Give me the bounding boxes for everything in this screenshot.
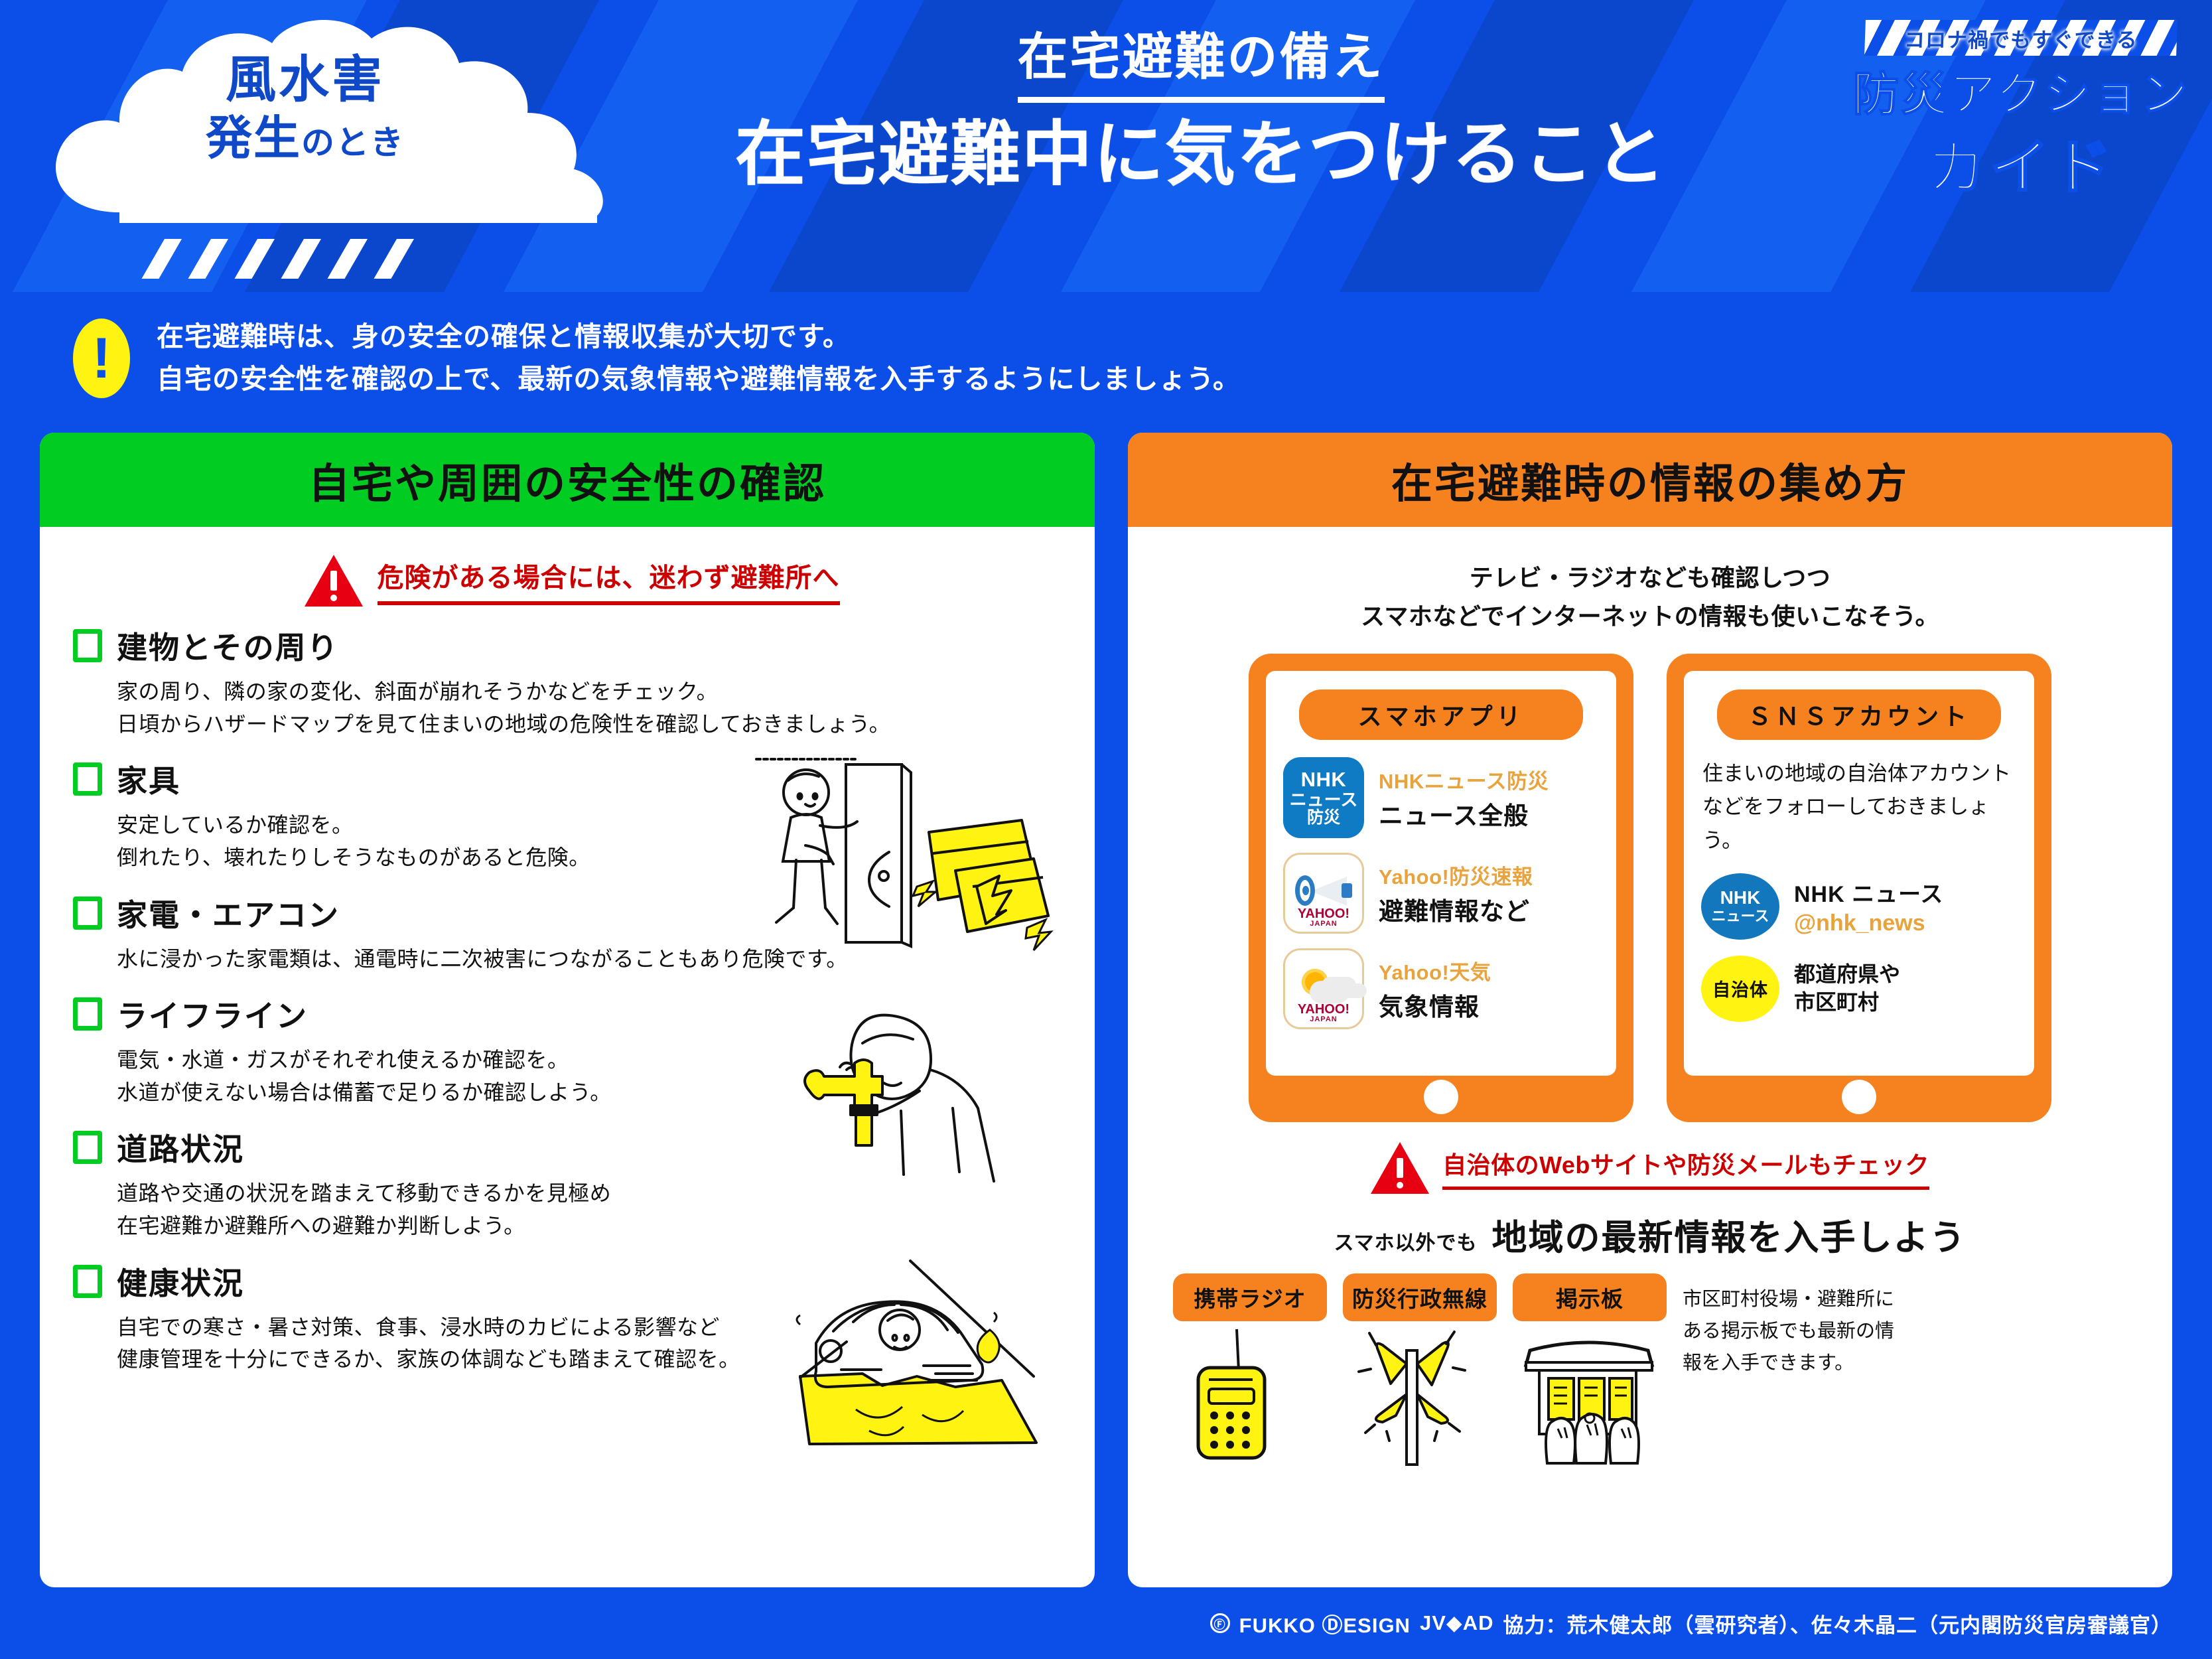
megaphone-icon: [1295, 874, 1352, 908]
yahoo-brand: YAHOO!: [1298, 906, 1349, 921]
collect-big-text: 地域の最新情報を入手しよう: [1492, 1210, 1967, 1260]
left-panel-heading: 自宅や周囲の安全性の確認: [309, 450, 826, 510]
sns-card-description: 住まいの地域の自治体アカウントなどをフォローしておきましょう。: [1702, 757, 2017, 857]
sns-account-name: NHK ニュース: [1794, 876, 1943, 908]
checkbox-icon[interactable]: [73, 1265, 102, 1298]
device-cards: スマホアプリ NHK ニュース 防災 NHKニュース防災 ニュース全般: [1158, 654, 2142, 1122]
checklist-title: 健康状況: [117, 1260, 244, 1303]
collect-small-text: スマホ以外でも: [1334, 1226, 1477, 1256]
person-checking-faucet-illustration: [790, 991, 1075, 1210]
checklist-title: 道路状況: [117, 1125, 244, 1169]
alert-line-1: 在宅避難時は、身の安全の確保と情報収集が大切です。: [157, 316, 1241, 358]
checklist-title: 家具: [117, 757, 180, 801]
left-panel-header: 自宅や周囲の安全性の確認: [40, 433, 1095, 527]
nhk-news-bosai-app-icon: NHK ニュース 防災: [1283, 757, 1364, 838]
app-icon-line-a: NHK: [1301, 769, 1347, 791]
checklist-desc-2: 日頃からハザードマップを見て住まいの地域の危険性を確認しておきましょう。: [117, 708, 1071, 741]
sun-cloud-icon: [1295, 969, 1352, 1006]
checklist-desc-1: 家の周り、隣の家の変化、斜面が崩れそうかなどをチェック。: [117, 676, 1071, 708]
app-role: 避難情報など: [1379, 891, 1533, 927]
yahoo-brand: YAHOO!: [1298, 1002, 1349, 1017]
sns-icon-line-a: NHK: [1720, 888, 1761, 908]
right-panel-body: テレビ・ラジオなども確認しつつ スマホなどでインターネットの情報も使いこなそう。…: [1128, 527, 2172, 1587]
left-panel-body: 危険がある場合には、迷わず避難所へ 建物とその周り 家の周り、隣の家の変化、斜面…: [40, 527, 1095, 1587]
footer-credit: 協力：荒木健太郎（雲研究者）、佐々木晶二（元内閣防災官房審議官）: [1503, 1609, 2173, 1638]
car-in-flooded-road-illustration: [736, 1244, 1088, 1463]
alert-text: 在宅避難時は、身の安全の確保と情報収集が大切です。 自宅の安全性を確認の上で、最…: [157, 316, 1241, 400]
home-button-icon[interactable]: [1424, 1080, 1458, 1114]
badge-column: 防災行政無線: [1343, 1273, 1497, 1474]
sns-card-pill: ＳＮＳアカウント: [1717, 689, 2001, 740]
badge-label-bulletin: 掲示板: [1513, 1273, 1667, 1321]
nhk-news-sns-icon: NHK ニュース: [1701, 873, 1779, 940]
right-panel-header: 在宅避難時の情報の集め方: [1128, 433, 2172, 527]
portable-radio-icon: [1173, 1321, 1306, 1467]
infographic-page: 風水害 発生のとき 在宅避難の備え 在宅避難中に気をつけること コロナ禍でもすぐ…: [0, 0, 2212, 1659]
app-card-pill: スマホアプリ: [1299, 689, 1583, 740]
yahoo-bosai-sokuho-app-icon: YAHOO! JAPAN: [1283, 853, 1364, 934]
checkbox-icon[interactable]: [73, 762, 102, 796]
app-name: Yahoo!防災速報: [1379, 860, 1533, 890]
checkbox-icon[interactable]: [73, 997, 102, 1031]
yahoo-brand-label: YAHOO! JAPAN: [1285, 907, 1362, 928]
loudspeaker-tower-icon: [1343, 1321, 1482, 1467]
yahoo-brand-sub: JAPAN: [1285, 920, 1362, 928]
checklist-title: ライフライン: [117, 992, 308, 1036]
checklist-desc-2: 在宅避難か避難所への避難か判断しよう。: [117, 1210, 1071, 1242]
badge-label-radio: 携帯ラジオ: [1173, 1273, 1327, 1321]
right-warning-text: 自治体のWebサイトや防災メールもチェック: [1442, 1146, 1929, 1190]
sns-card-screen: ＳＮＳアカウント 住まいの地域の自治体アカウントなどをフォローしておきましょう。…: [1684, 671, 2034, 1076]
logo-line-3: ガイド: [1848, 119, 2193, 205]
alert-banner: ! 在宅避難時は、身の安全の確保と情報収集が大切です。 自宅の安全性を確認の上で…: [73, 312, 1798, 405]
yahoo-brand-label: YAHOO! JAPAN: [1285, 1003, 1362, 1023]
page-subtitle: 在宅避難の備え: [1018, 16, 1385, 103]
app-role: 気象情報: [1379, 987, 1491, 1023]
cloud-line-1: 風水害: [40, 52, 571, 108]
left-warning-row: 危険がある場合には、迷わず避難所へ: [73, 555, 1071, 607]
person-with-flashlight-and-fallen-furniture-illustration: [736, 746, 1081, 965]
checkbox-icon[interactable]: [73, 629, 102, 662]
badge-label-radio-system: 防災行政無線: [1343, 1273, 1497, 1321]
badge-column: 携帯ラジオ: [1173, 1273, 1327, 1474]
app-role: ニュース全般: [1379, 796, 1549, 831]
app-icon-line-c: 防災: [1307, 809, 1340, 826]
fukko-logo-icon: Ⓕ: [1210, 1613, 1230, 1633]
right-lead-text: テレビ・ラジオなども確認しつつ スマホなどでインターネットの情報も使いこなそう。: [1158, 559, 2142, 635]
right-lead-line-2: スマホなどでインターネットの情報も使いこなそう。: [1158, 597, 2142, 636]
left-warning-text: 危険がある場合には、迷わず避難所へ: [378, 556, 840, 605]
logo-ribbon: コロナ禍でもすぐできる: [1864, 20, 2177, 56]
right-panel-info-gathering: 在宅避難時の情報の集め方 テレビ・ラジオなども確認しつつ スマホなどでインターネ…: [1128, 433, 2172, 1587]
sns-account-row[interactable]: NHK ニュース NHK ニュース @nhk_news: [1701, 873, 2017, 940]
page-title: 在宅避難中に気をつけること: [571, 116, 1831, 194]
app-row[interactable]: YAHOO! JAPAN Yahoo!天気 気象情報: [1283, 948, 1599, 1029]
smartphone-app-card: スマホアプリ NHK ニュース 防災 NHKニュース防災 ニュース全般: [1249, 654, 1633, 1122]
jichitai-sns-icon: 自治体: [1701, 956, 1779, 1022]
yahoo-brand-sub: JAPAN: [1285, 1016, 1362, 1023]
badge-note-text: 市区町村役場・避難所にある掲示板でも最新の情報を入手できます。: [1683, 1273, 1901, 1380]
footer-credits: Ⓕ FUKKO ⒹESIGN JV◆AD 協力：荒木健太郎（雲研究者）、佐々木晶…: [0, 1587, 2212, 1659]
warning-triangle-icon: [305, 555, 363, 607]
sns-icon-label: 自治体: [1712, 975, 1768, 1001]
offline-info-badges: 携帯ラジオ: [1158, 1273, 2142, 1474]
cloud-line-2-main: 発生: [206, 112, 301, 164]
cloud-line-2-sub: のとき: [301, 124, 405, 161]
footer-jvoad: JV◆AD: [1420, 1611, 1494, 1635]
checklist-title: 建物とその周り: [117, 624, 339, 668]
yahoo-tenki-app-icon: YAHOO! JAPAN: [1283, 948, 1364, 1029]
left-panel-home-safety: 自宅や周囲の安全性の確認 危険がある場合には、迷わず避難所へ 建物とその周り 家…: [40, 433, 1095, 1587]
page-title-block: 在宅避難の備え 在宅避難中に気をつけること: [571, 16, 1831, 194]
app-icon-line-b: ニュース: [1290, 791, 1358, 809]
badge-column: 掲示板: [1513, 1273, 1667, 1474]
footer-fukko: FUKKO ⒹESIGN: [1239, 1609, 1411, 1638]
app-row[interactable]: YAHOO! JAPAN Yahoo!防災速報 避難情報など: [1283, 853, 1599, 934]
home-button-icon[interactable]: [1842, 1080, 1876, 1114]
alert-line-2: 自宅の安全性を確認の上で、最新の気象情報や避難情報を入手するようにしましょう。: [157, 358, 1241, 401]
app-row[interactable]: NHK ニュース 防災 NHKニュース防災 ニュース全般: [1283, 757, 1599, 838]
checkbox-icon[interactable]: [73, 1131, 102, 1164]
app-card-screen: スマホアプリ NHK ニュース 防災 NHKニュース防災 ニュース全般: [1266, 671, 1616, 1076]
disaster-type-cloud-badge: 風水害 発生のとき: [40, 13, 637, 279]
exclamation-icon: !: [73, 319, 130, 398]
checklist-item[interactable]: 建物とその周り 家の周り、隣の家の変化、斜面が崩れそうかなどをチェック。 日頃か…: [73, 624, 1071, 740]
logo-line-2: 防災アクション: [1848, 57, 2193, 124]
sns-icon-line-b: ニュース: [1712, 908, 1769, 924]
sns-account-handle: @nhk_news: [1794, 910, 1943, 936]
sns-account-row[interactable]: 自治体 都道府県や 市区町村: [1701, 956, 2017, 1022]
sns-account-card: ＳＮＳアカウント 住まいの地域の自治体アカウントなどをフォローしておきましょう。…: [1667, 654, 2051, 1122]
sns-account-line-1: 都道府県や: [1794, 961, 1900, 989]
collect-info-heading: スマホ以外でも 地域の最新情報を入手しよう: [1158, 1210, 2142, 1260]
logo-ribbon-text: コロナ禍でもすぐできる: [1864, 20, 2177, 56]
right-panel-heading: 在宅避難時の情報の集め方: [1391, 450, 1909, 510]
sns-account-line-2: 市区町村: [1794, 989, 1900, 1017]
right-warning-row: 自治体のWebサイトや防災メールもチェック: [1158, 1142, 2142, 1194]
right-lead-line-1: テレビ・ラジオなども確認しつつ: [1158, 559, 2142, 597]
checklist-title: 家電・エアコン: [117, 891, 340, 935]
warning-triangle-icon: [1371, 1142, 1429, 1194]
app-name: Yahoo!天気: [1379, 956, 1491, 985]
guide-logo: コロナ禍でもすぐできる 防災アクション ガイド: [1848, 20, 2193, 205]
bulletin-board-icon: [1513, 1321, 1665, 1467]
checkbox-icon[interactable]: [73, 897, 102, 930]
app-name: NHKニュース防災: [1379, 764, 1549, 794]
